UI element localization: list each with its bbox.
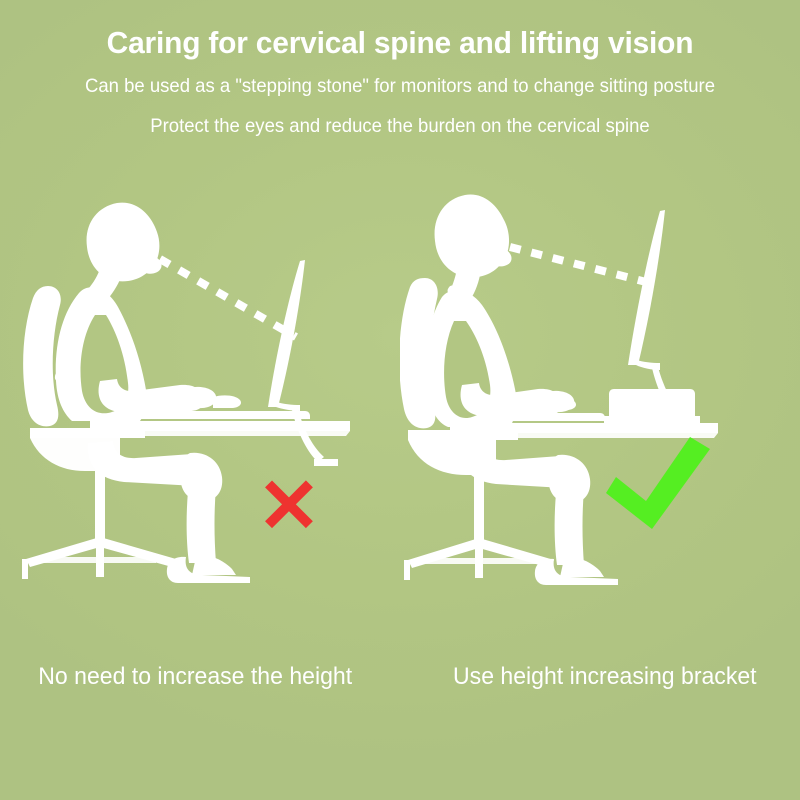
- svg-text:✕: ✕: [257, 464, 319, 549]
- caption-good-posture: Use height increasing bracket: [408, 655, 792, 699]
- sight-line-dots: [160, 259, 296, 337]
- check-icon: [606, 437, 710, 529]
- page-title: Caring for cervical spine and lifting vi…: [22, 26, 779, 61]
- subtitle-line-1: Can be used as a "stepping stone" for mo…: [28, 75, 773, 99]
- monitor-riser-icon: [604, 389, 700, 423]
- infographic-poster: Caring for cervical spine and lifting vi…: [0, 0, 800, 800]
- seated-person-icon: [56, 203, 250, 583]
- cross-icon: ✕: [257, 464, 319, 549]
- sight-line-dots: [510, 247, 650, 283]
- seated-person-icon: [427, 195, 618, 585]
- caption-row: No need to increase the height Use heigh…: [0, 655, 800, 699]
- panel-bad-posture: ✕: [0, 185, 400, 625]
- panel-good-posture: [400, 185, 800, 625]
- mouse-icon: [213, 395, 241, 408]
- subtitle-line-2: Protect the eyes and reduce the burden o…: [28, 115, 773, 139]
- caption-bad-posture: No need to increase the height: [8, 655, 392, 699]
- header-block: Caring for cervical spine and lifting vi…: [0, 26, 800, 138]
- illustration-stage: ✕: [0, 185, 800, 625]
